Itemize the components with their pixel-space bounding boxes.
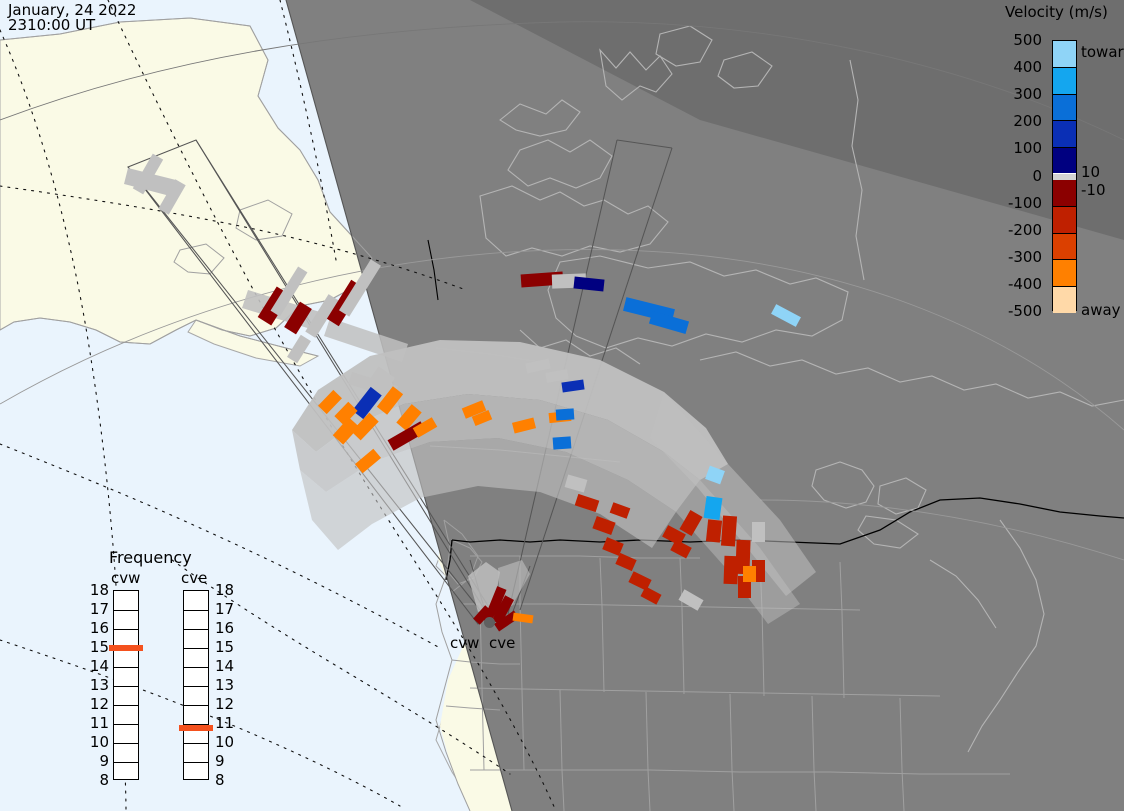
frequency-scale-label: 18 — [85, 581, 109, 599]
frequency-scale-label: 10 — [85, 733, 109, 751]
colorbar-segment — [1053, 41, 1076, 67]
frequency-bar-cve — [183, 590, 209, 780]
colorbar-tick: 500 — [1013, 31, 1042, 49]
frequency-tick — [184, 762, 208, 763]
frequency-scale-label: 14 — [85, 657, 109, 675]
frequency-scale-label: 18 — [215, 581, 239, 599]
velocity-cell — [678, 589, 703, 610]
frequency-tick — [184, 667, 208, 668]
colorbar-segment — [1053, 120, 1076, 147]
velocity-cell — [556, 408, 575, 420]
velocity-cell — [413, 417, 438, 438]
velocity-cell — [351, 413, 378, 441]
velocity-cell — [158, 179, 185, 214]
velocity-cell — [573, 276, 604, 291]
frequency-channel-name-cvw: cvw — [111, 569, 140, 587]
velocity-colorbar: Velocity (m/s) 5004003002001000-100-200-… — [995, 0, 1124, 340]
frequency-scale-label: 16 — [85, 619, 109, 637]
velocity-cell — [133, 154, 163, 195]
frequency-scale-label: 9 — [215, 752, 239, 770]
site-label-cvw: cvw — [450, 634, 479, 652]
frequency-tick — [184, 743, 208, 744]
frequency-scale-label: 12 — [85, 695, 109, 713]
frequency-bar-cvw — [113, 590, 139, 780]
velocity-cell — [525, 359, 551, 374]
frequency-tick — [184, 610, 208, 611]
velocity-cell — [771, 304, 801, 327]
radar-site-dot — [484, 617, 495, 628]
frequency-scale-label: 14 — [215, 657, 239, 675]
velocity-cell — [592, 516, 615, 535]
frequency-scale-label: 8 — [85, 771, 109, 789]
frequency-scale-label: 11 — [85, 714, 109, 732]
colorbar-title: Velocity (m/s) — [1005, 3, 1108, 21]
frequency-tick — [114, 667, 138, 668]
colorbar-tick: 300 — [1013, 85, 1042, 103]
colorbar-tick: -300 — [1008, 248, 1042, 266]
frequency-tick — [114, 686, 138, 687]
frequency-legend: Frequency cvw cve 18171615141312111098 1… — [85, 548, 255, 788]
frequency-tick — [114, 743, 138, 744]
frequency-scale-label: 13 — [85, 676, 109, 694]
velocity-cell — [575, 494, 600, 512]
colorbar-segment — [1053, 94, 1076, 121]
velocity-cell — [512, 418, 536, 434]
frequency-scale-label: 16 — [215, 619, 239, 637]
velocity-cell — [355, 449, 381, 474]
frequency-title: Frequency — [109, 548, 192, 567]
colorbar-tick: -500 — [1008, 302, 1042, 320]
frequency-tick — [114, 610, 138, 611]
velocity-cell — [705, 466, 725, 485]
colorbar-zero-high-label: 10 — [1081, 163, 1100, 181]
colorbar-tick: 0 — [1032, 167, 1042, 185]
colorbar-zero-low-label: -10 — [1081, 181, 1106, 199]
colorbar-segment — [1053, 233, 1076, 260]
frequency-scale-label: 17 — [215, 600, 239, 618]
velocity-cell — [287, 335, 311, 363]
colorbar-toward-label: toward — [1081, 43, 1124, 61]
frequency-scale-label: 17 — [85, 600, 109, 618]
velocity-cell — [640, 586, 661, 604]
colorbar-tick: -200 — [1008, 221, 1042, 239]
velocity-cell — [553, 436, 572, 449]
velocity-cell — [610, 502, 631, 518]
colorbar-segment — [1053, 180, 1076, 206]
velocity-cell — [721, 516, 737, 547]
radar-fan-plot: cvw cve January, 24 2022 2310:00 UT Velo… — [0, 0, 1124, 811]
frequency-tick — [184, 686, 208, 687]
frequency-tick — [114, 705, 138, 706]
frequency-scale-label: 13 — [215, 676, 239, 694]
velocity-cell — [615, 553, 636, 571]
frequency-scale-label: 8 — [215, 771, 239, 789]
frequency-scale-label: 15 — [85, 638, 109, 656]
colorbar-tick: 100 — [1013, 139, 1042, 157]
colorbar-away-label: away — [1081, 301, 1121, 319]
colorbar-tick: -400 — [1008, 275, 1042, 293]
frequency-tick — [184, 705, 208, 706]
frequency-scale-label: 11 — [215, 714, 239, 732]
velocity-cell — [670, 539, 692, 558]
timestamp-time: 2310:00 UT — [8, 18, 95, 33]
colorbar-segment — [1053, 206, 1076, 233]
colorbar-tick: -100 — [1008, 194, 1042, 212]
velocity-cell — [706, 519, 722, 542]
frequency-tick — [184, 648, 208, 649]
site-label-cve: cve — [489, 634, 515, 652]
frequency-channel-name-cve: cve — [181, 569, 207, 587]
frequency-tick — [114, 762, 138, 763]
velocity-cell — [752, 522, 765, 542]
frequency-scale-label: 10 — [215, 733, 239, 751]
colorbar-segment — [1053, 147, 1076, 174]
velocity-cell — [565, 474, 588, 492]
frequency-marker — [109, 645, 143, 651]
colorbar-segment — [1053, 286, 1076, 313]
colorbar-tick: 200 — [1013, 112, 1042, 130]
frequency-scale-label: 12 — [215, 695, 239, 713]
frequency-marker — [179, 725, 213, 731]
velocity-cell — [743, 566, 756, 582]
frequency-scale-label: 9 — [85, 752, 109, 770]
colorbar-gradient — [1052, 40, 1077, 311]
frequency-tick — [114, 724, 138, 725]
velocity-cell — [513, 613, 534, 624]
frequency-tick — [184, 629, 208, 630]
colorbar-segment — [1053, 259, 1076, 286]
velocity-cell — [561, 380, 584, 393]
velocity-cell — [724, 556, 739, 584]
colorbar-segment — [1053, 67, 1076, 94]
velocity-cell — [545, 369, 568, 383]
velocity-cell — [704, 496, 723, 520]
frequency-scale-label: 15 — [215, 638, 239, 656]
frequency-tick — [114, 629, 138, 630]
colorbar-tick: 400 — [1013, 58, 1042, 76]
